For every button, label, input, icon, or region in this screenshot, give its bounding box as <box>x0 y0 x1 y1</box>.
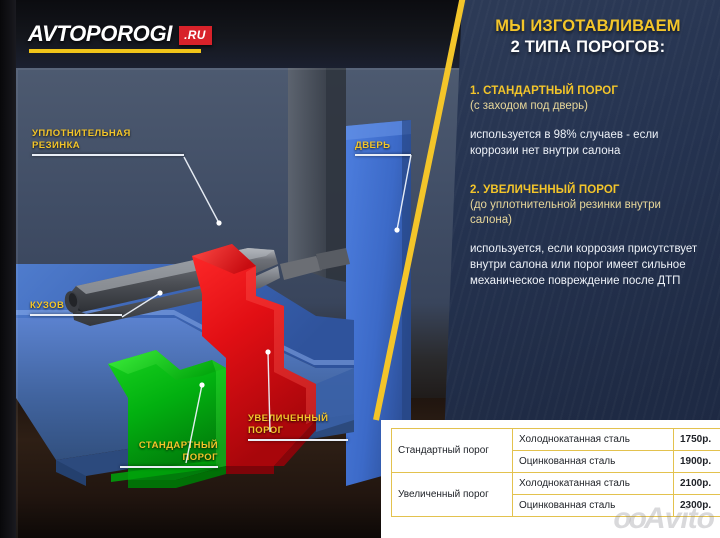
callout-door-label: ДВЕРЬ <box>355 140 415 152</box>
callout-body-label: КУЗОВ <box>30 300 130 312</box>
cell-material: Холоднокатанная сталь <box>513 473 674 495</box>
brand-logo[interactable]: AVTOPOROGI .RU <box>28 22 212 46</box>
cell-price: 2300р. <box>674 495 720 517</box>
callout-standard-rule <box>120 466 218 468</box>
logo-domain-badge: .RU <box>179 26 212 45</box>
callout-seal-label: УПЛОТНИТЕЛЬНАЯ РЕЗИНКА <box>32 128 192 152</box>
cell-type-standard: Стандартный порог <box>392 429 513 473</box>
section-enlarged-subtitle: (до уплотнительной резинки внутри салона… <box>470 198 706 228</box>
callout-seal-rule <box>32 154 184 156</box>
cell-type-enlarged: Увеличенный порог <box>392 473 513 517</box>
section-standard-subtitle: (с заходом под дверь) <box>470 99 706 114</box>
callout-enlarged: УВЕЛИЧЕННЫЙ ПОРОГ <box>248 413 368 441</box>
section-standard: 1. СТАНДАРТНЫЙ ПОРОГ (с заходом под двер… <box>470 84 706 159</box>
section-enlarged-title: 2. УВЕЛИЧЕННЫЙ ПОРОГ <box>470 183 706 198</box>
logo-wordmark: AVTOPOROGI <box>28 22 172 46</box>
logo-underline <box>29 49 201 53</box>
callout-door-rule <box>355 154 411 156</box>
table-row: Стандартный порог Холоднокатанная сталь … <box>392 429 720 451</box>
ad-image: УПЛОТНИТЕЛЬНАЯ РЕЗИНКА КУЗОВ СТАНДАРТНЫЙ… <box>0 0 720 538</box>
cell-material: Холоднокатанная сталь <box>513 429 674 451</box>
frame-left-band <box>0 0 16 538</box>
headline-line-1: МЫ ИЗГОТАВЛИВАЕМ <box>462 16 714 37</box>
callout-body: КУЗОВ <box>30 300 130 316</box>
cell-price: 2100р. <box>674 473 720 495</box>
headline: МЫ ИЗГОТАВЛИВАЕМ 2 ТИПА ПОРОГОВ: <box>462 16 720 58</box>
section-standard-title: 1. СТАНДАРТНЫЙ ПОРОГ <box>470 84 706 99</box>
section-enlarged-body: используется, если коррозия присутствует… <box>470 241 706 289</box>
headline-line-2: 2 ТИПА ПОРОГОВ: <box>462 37 714 58</box>
callout-standard: СТАНДАРТНЫЙ ПОРОГ <box>88 440 218 468</box>
callout-standard-label: СТАНДАРТНЫЙ ПОРОГ <box>88 440 218 464</box>
price-table-container: Стандартный порог Холоднокатанная сталь … <box>381 420 720 538</box>
callout-door: ДВЕРЬ <box>355 140 415 156</box>
callout-enlarged-label: УВЕЛИЧЕННЫЙ ПОРОГ <box>248 413 368 437</box>
callout-seal: УПЛОТНИТЕЛЬНАЯ РЕЗИНКА <box>32 128 192 156</box>
cell-price: 1900р. <box>674 451 720 473</box>
callout-body-rule <box>30 314 122 316</box>
section-enlarged: 2. УВЕЛИЧЕННЫЙ ПОРОГ (до уплотнительной … <box>470 183 706 289</box>
cell-material: Оцинкованная сталь <box>513 495 674 517</box>
price-table: Стандартный порог Холоднокатанная сталь … <box>391 428 720 517</box>
cell-material: Оцинкованная сталь <box>513 451 674 473</box>
callout-enlarged-rule <box>248 439 348 441</box>
table-row: Увеличенный порог Холоднокатанная сталь … <box>392 473 720 495</box>
section-standard-body: используется в 98% случаев - если корроз… <box>470 127 706 159</box>
cell-price: 1750р. <box>674 429 720 451</box>
